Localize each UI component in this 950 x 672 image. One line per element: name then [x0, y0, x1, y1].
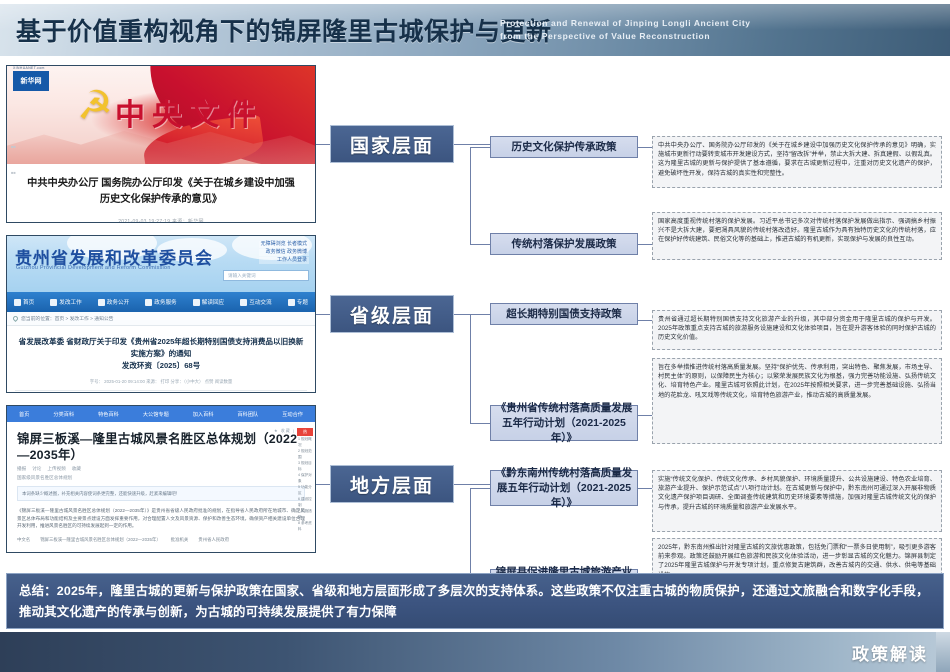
baike-nav-item-5[interactable]: 百科团队 — [237, 411, 258, 418]
document-headline-line2: 历史文化保护传承的意见》 — [25, 192, 297, 208]
level-box-local[interactable]: 地方层面 — [330, 465, 454, 503]
gov-top-links[interactable]: 无障碍浏览 长者模式 政务微信 政务微博 工作人员登录 — [259, 241, 309, 265]
connector-shot-to-provincial — [316, 314, 330, 315]
gov-nav-item-6[interactable]: 专题 — [285, 298, 311, 306]
baike-info-val-0: 锦屏三板溪—隆里古城风景名胜区总体规划（2022—2035年） — [40, 537, 161, 543]
connector-pp2-to-desc — [638, 415, 652, 416]
gov-site-masthead: 贵州省发展和改革委员会 Guizhou Provincial Developme… — [7, 236, 315, 292]
level-box-national[interactable]: 国家层面 — [330, 125, 454, 163]
baike-toc-item-0[interactable]: 1 规划概况 — [297, 436, 313, 448]
gov-document-title-line1: 省发展改革委 省财政厅关于印发《贵州省2025年超长期特别国债支持消费品以旧换新… — [15, 336, 307, 360]
connector-shot-to-local — [316, 484, 330, 485]
page-title: 基于价值重构视角下的锦屏隆里古城保护与更新 — [16, 12, 552, 48]
gov-document-title-line2: 发改环资〔2025〕68号 — [15, 360, 307, 372]
content-area: XINHUANET.com 新华网 ☭ 中央文件 中共中央办公厅 国务院办公厅印… — [0, 60, 950, 565]
baike-chip-3[interactable]: 收藏 — [72, 466, 81, 472]
baike-nav-item-6[interactable]: 互动合作 — [282, 411, 303, 418]
policy-title-provincial-2[interactable]: 《贵州省传统村落高质量发展五年行动计划（2021‑2025年）》 — [490, 405, 638, 441]
baike-nav-item-2[interactable]: 特色百科 — [98, 411, 119, 418]
connector-local-stem — [454, 484, 490, 485]
footer-bar: 政策解读 — [0, 632, 950, 672]
gov-nav-item-2[interactable]: 政务公开 — [95, 298, 132, 306]
baike-nav-item-4[interactable]: 加入百科 — [193, 411, 214, 418]
baike-article-title: 锦屏三板溪—隆里古城风景名胜区总体规划（2022—2035年） — [17, 431, 305, 463]
central-document-banner: XINHUANET.com 新华网 ☭ 中央文件 — [7, 66, 315, 164]
baike-sidebar-toc[interactable]: 热 1 规划概况 2 规划范围 3 规划目标 4 保护对象 5 功能分区 6 建… — [297, 428, 313, 532]
baike-toc-item-4[interactable]: 5 功能分区 — [297, 484, 313, 496]
gov-nav-label-2: 政务公开 — [107, 298, 129, 306]
gov-nav-label-4: 解读回应 — [202, 298, 224, 306]
policy-description-national-1: 中共中央办公厅、国务院办公厅印发的《关于在城乡建设中加强历史文化保护传承的意见》… — [652, 136, 942, 188]
gov-nav-label-0: 首页 — [23, 298, 34, 306]
connector-shot-to-national — [316, 144, 330, 145]
gov-top-link-0[interactable]: 无障碍浏览 长者模式 — [259, 241, 309, 248]
document-headline: 中共中央办公厅 国务院办公厅印发《关于在城乡建设中加强 历史文化保护传承的意见》 — [7, 164, 315, 212]
baike-info-val-1: 贵州省人民政府 — [198, 537, 229, 543]
gov-nav-item-5[interactable]: 互动交流 — [237, 298, 274, 306]
briefcase-icon — [50, 299, 57, 306]
gov-search-input[interactable]: 请输入关键词 — [223, 270, 309, 281]
baike-article: ★ 收藏 | 分享 锦屏三板溪—隆里古城风景名胜区总体规划（2022—2035年… — [7, 422, 315, 553]
gov-nav-item-3[interactable]: 政务服务 — [142, 298, 179, 306]
connector-national-stem — [454, 144, 490, 145]
document-meta: 2021-09-03 19:27:19 来源：新华网 — [7, 218, 315, 223]
gov-breadcrumb[interactable]: 您当前的位置：首页 > 发改工作 > 通知公告 — [7, 312, 315, 326]
connector-p1-to-desc — [638, 147, 652, 148]
policy-description-provincial-2: 旨在多举措推进传统村落高质量发展。坚持“保护优先、传承利用，突出特色、聚焦发展，… — [652, 358, 942, 444]
baike-info-key-1: 批准机关 — [171, 537, 189, 543]
baike-paragraph: 《锦屏三板溪—隆里古城风景名胜区总体规划（2022—2035年）》是贵州省省级人… — [17, 507, 305, 530]
connector-provincial-to-p2 — [470, 423, 490, 424]
gov-nav-label-1: 发改工作 — [59, 298, 81, 306]
sidebar-marker-2: ■■ — [11, 170, 16, 175]
sidebar-marker-1: ■■ — [11, 144, 16, 149]
connector-p2-to-desc — [638, 244, 652, 245]
baike-toc-item-3[interactable]: 4 保护对象 — [297, 472, 313, 484]
connector-national-to-p1 — [470, 147, 490, 148]
page-subtitle-line1: Protection and Renewal of Jinping Longli… — [500, 17, 751, 30]
footer-accent-block — [936, 632, 950, 672]
footer-section-label: 政策解读 — [852, 640, 928, 665]
screenshot-national-document[interactable]: XINHUANET.com 新华网 ☭ 中央文件 中共中央办公厅 国务院办公厅印… — [6, 65, 316, 223]
policy-title-national-2[interactable]: 传统村落保护发展政策 — [490, 233, 638, 255]
policy-description-national-2: 国家高度重视传统村落的保护发展。习近平总书记多次对传统村落保护发展做出指示、强调… — [652, 212, 942, 260]
gov-site-name-en: Guizhou Provincial Development and Refor… — [16, 265, 171, 271]
connector-national-spine — [470, 147, 471, 244]
grid-icon — [288, 299, 295, 306]
baike-chip-0[interactable]: 播报 — [17, 466, 26, 472]
gov-nav-item-4[interactable]: 解读回应 — [190, 298, 227, 306]
chat-icon — [240, 299, 247, 306]
connector-provincial-to-p1 — [470, 314, 490, 315]
connector-local-to-p1 — [470, 488, 490, 489]
level-box-provincial[interactable]: 省级层面 — [330, 295, 454, 333]
baike-chip-2[interactable]: 上传视频 — [47, 466, 65, 472]
baike-info-row: 中文名 锦屏三板溪—隆里古城风景名胜区总体规划（2022—2035年） 批准机关… — [17, 537, 305, 543]
policy-title-provincial-1[interactable]: 超长期特别国债支持政策 — [490, 303, 638, 325]
screenshot-local-plan-page[interactable]: 首页 分类百科 特色百科 大公馆专题 加入百科 百科团队 互动合作 ★ 收藏 |… — [6, 405, 316, 553]
policy-description-local-1: 实施“传统文化保护、传统文化传承、乡村风貌保护、环境质量提升、公共设施建设、特色… — [652, 470, 942, 532]
connector-national-to-p2 — [470, 244, 490, 245]
user-icon — [145, 299, 152, 306]
page-subtitle-en: Protection and Renewal of Jinping Longli… — [500, 17, 751, 43]
baike-nav-item-0[interactable]: 首页 — [19, 411, 29, 418]
baike-toc-item-6[interactable]: 7 实施措施 — [297, 508, 313, 520]
gov-nav-label-3: 政务服务 — [154, 298, 176, 306]
slide-root: 基于价值重构视角下的锦屏隆里古城保护与更新 Protection and Ren… — [0, 0, 950, 672]
slide-header: 基于价值重构视角下的锦屏隆里古城保护与更新 Protection and Ren… — [0, 4, 950, 56]
gov-breadcrumb-text: 您当前的位置：首页 > 发改工作 > 通知公告 — [21, 315, 113, 322]
gov-document-meta: 字号： 2025-01-20 09:14:00 来源： 打印 分享：（小中大） … — [7, 374, 315, 385]
baike-chip-1[interactable]: 讨论 — [32, 466, 41, 472]
gov-nav-label-6: 专题 — [297, 298, 308, 306]
banner-title: 中央文件 — [115, 90, 263, 134]
baike-action-chips[interactable]: 播报 讨论 上传视频 收藏 — [17, 466, 305, 472]
baike-toc-item-1[interactable]: 2 规划范围 — [297, 448, 313, 460]
baike-toc-item-7[interactable]: 8 参考资料 — [297, 520, 313, 532]
baike-section-heading: 参考资料 — [17, 553, 305, 554]
connector-local-spine — [470, 488, 471, 580]
baike-toc-item-5[interactable]: 6 建设控制 — [297, 496, 313, 508]
baike-notice-banner[interactable]: 本词条缺少概述图，补充相关内容使词条更完整，还能快速升级，赶紧来编辑吧！ — [17, 486, 305, 501]
policy-description-provincial-1: 贵州省通过超长期特别国债支持文化旅游产业的升级，其中部分资金用于隆里古城的保护与… — [652, 310, 942, 350]
policy-title-local-1[interactable]: 《黔东南州传统村落高质量发展五年行动计划（2021‑2025年）》 — [490, 470, 638, 506]
gov-top-link-2[interactable]: 工作人员登录 — [259, 257, 309, 264]
baike-nav-item-3[interactable]: 大公馆专题 — [143, 411, 169, 418]
connector-provincial-spine — [470, 314, 471, 423]
gov-document-body-line: 省发展改革委 省财政厅关于印发《贵州省2025年超长期特别国债支持消费品以旧换新… — [7, 391, 315, 393]
location-pin-icon — [12, 315, 19, 322]
policy-title-national-1[interactable]: 历史文化保护传承政策 — [490, 136, 638, 158]
baike-hot-badge: 热 — [297, 428, 313, 436]
page-subtitle-line2: from the Perspective of Value Reconstruc… — [500, 30, 751, 43]
gov-nav-item-0[interactable]: 首页 — [11, 298, 37, 306]
gov-top-link-1[interactable]: 政务微信 政务微博 — [259, 249, 309, 256]
connector-pp1-to-desc — [638, 320, 652, 321]
gov-nav-label-5: 互动交流 — [249, 298, 271, 306]
screenshot-provincial-website[interactable]: 贵州省发展和改革委员会 Guizhou Provincial Developme… — [6, 235, 316, 393]
baike-nav[interactable]: 首页 分类百科 特色百科 大公馆专题 加入百科 百科团队 互动合作 — [7, 406, 315, 422]
megaphone-icon — [193, 299, 200, 306]
document-icon — [98, 299, 105, 306]
summary-banner: 总结：2025年，隆里古城的更新与保护政策在国家、省级和地方层面形成了多层次的支… — [6, 573, 944, 629]
document-headline-line1: 中共中央办公厅 国务院办公厅印发《关于在城乡建设中加强 — [25, 176, 297, 192]
baike-info-key-0: 中文名 — [17, 537, 30, 543]
gov-document-title: 省发展改革委 省财政厅关于印发《贵州省2025年超长期特别国债支持消费品以旧换新… — [7, 326, 315, 374]
baike-nav-item-1[interactable]: 分类百科 — [53, 411, 74, 418]
gov-primary-nav[interactable]: 首页 发改工作 政务公开 政务服务 解读回应 互动交流 专题 — [7, 292, 315, 312]
gov-nav-item-1[interactable]: 发改工作 — [47, 298, 84, 306]
baike-subtitle: 国家级风景名胜区总体规划 — [17, 475, 305, 481]
hammer-sickle-icon: ☭ — [77, 86, 113, 126]
connector-lp1-to-desc — [638, 488, 652, 489]
home-icon — [14, 299, 21, 306]
baike-toc-item-2[interactable]: 3 规划目标 — [297, 460, 313, 472]
xinhua-logo[interactable]: 新华网 — [13, 71, 49, 91]
